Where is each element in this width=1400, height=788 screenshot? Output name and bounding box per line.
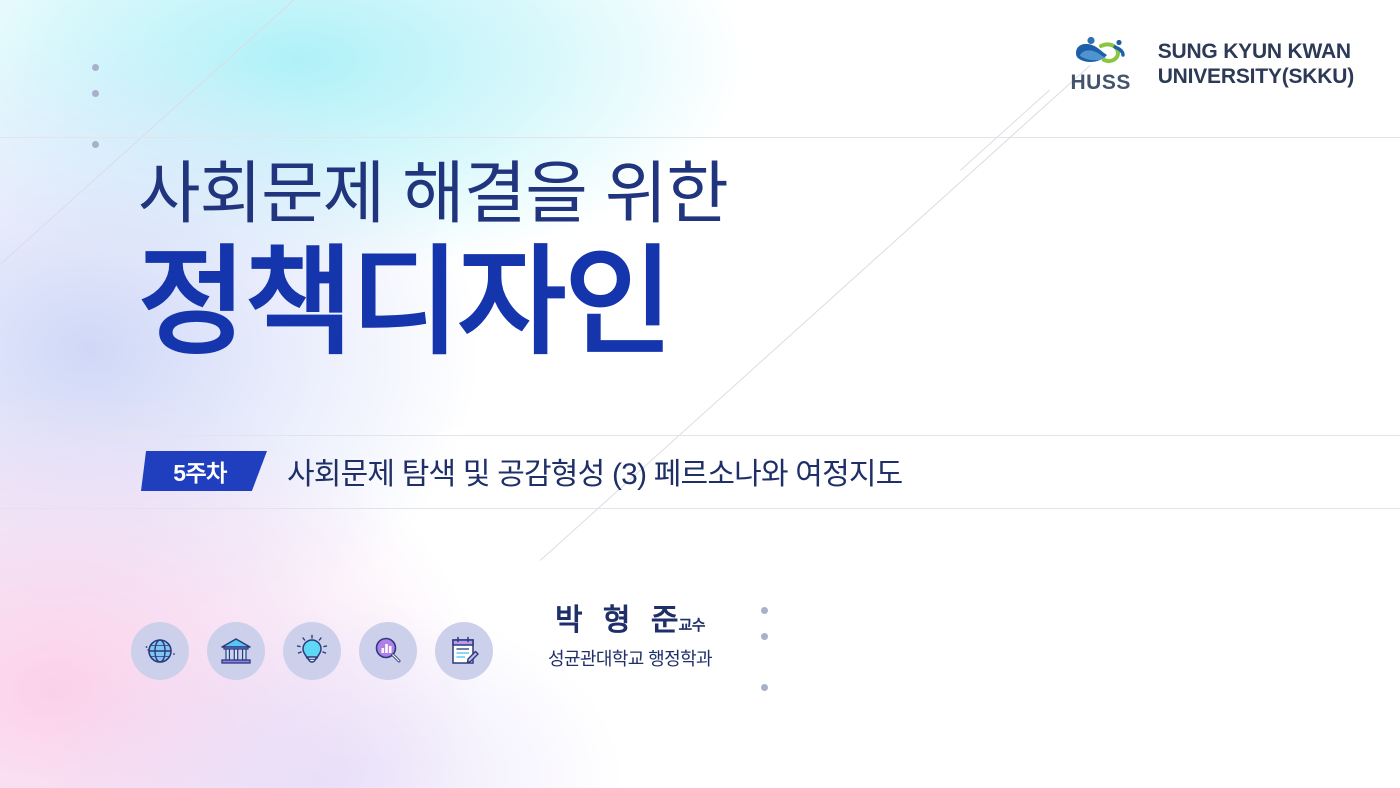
huss-logo: HUSS [1062, 36, 1140, 93]
huss-emblem-icon [1071, 36, 1131, 70]
slide-canvas: 사회문제 해결을 위한 정책디자인 HUSS SUNG KYUN KWAN UN… [0, 0, 1400, 788]
icon-strip [131, 622, 493, 680]
presenter-affiliation: 성균관대학교 행정학과 [515, 645, 745, 671]
divider-footer [0, 508, 1400, 509]
dot [761, 607, 768, 614]
dot [761, 633, 768, 640]
title-line-1: 사회문제 해결을 위한 [138, 160, 1038, 228]
divider-header [0, 137, 1400, 138]
presenter-rank: 교수 [678, 617, 705, 634]
presenter-name-row: 박 형 준교수 [515, 604, 745, 637]
university-name-line-1: SUNG KYUN KWAN [1158, 40, 1354, 65]
decorative-dots-top-left [92, 64, 99, 148]
institution-icon [207, 622, 265, 680]
title-block: 사회문제 해결을 위한 정책디자인 [138, 160, 1038, 365]
dot [761, 684, 768, 691]
brand-lockup: HUSS SUNG KYUN KWAN UNIVERSITY(SKKU) [1062, 36, 1354, 93]
week-badge: 5주차 [141, 451, 267, 491]
lightbulb-icon [283, 622, 341, 680]
huss-wordmark: HUSS [1071, 72, 1131, 93]
diagonal-line-top [960, 90, 1050, 171]
dot [92, 64, 99, 71]
university-name: SUNG KYUN KWAN UNIVERSITY(SKKU) [1158, 40, 1354, 90]
presenter-name: 박 형 준 [555, 604, 684, 637]
university-name-line-2: UNIVERSITY(SKKU) [1158, 65, 1354, 90]
divider-session [0, 435, 1400, 436]
notepad-icon [435, 622, 493, 680]
presenter-block: 박 형 준교수 성균관대학교 행정학과 [515, 604, 745, 671]
session-row: 5주차 사회문제 탐색 및 공감형성 (3) 페르소나와 여정지도 [141, 449, 902, 493]
globe-icon [131, 622, 189, 680]
session-topic: 사회문제 탐색 및 공감형성 (3) 페르소나와 여정지도 [287, 449, 902, 493]
week-badge-label: 5주차 [173, 454, 227, 488]
decorative-dots-presenter [761, 607, 768, 691]
dot [92, 90, 99, 97]
dot [92, 141, 99, 148]
title-line-2: 정책디자인 [138, 242, 1038, 365]
analysis-icon [359, 622, 417, 680]
